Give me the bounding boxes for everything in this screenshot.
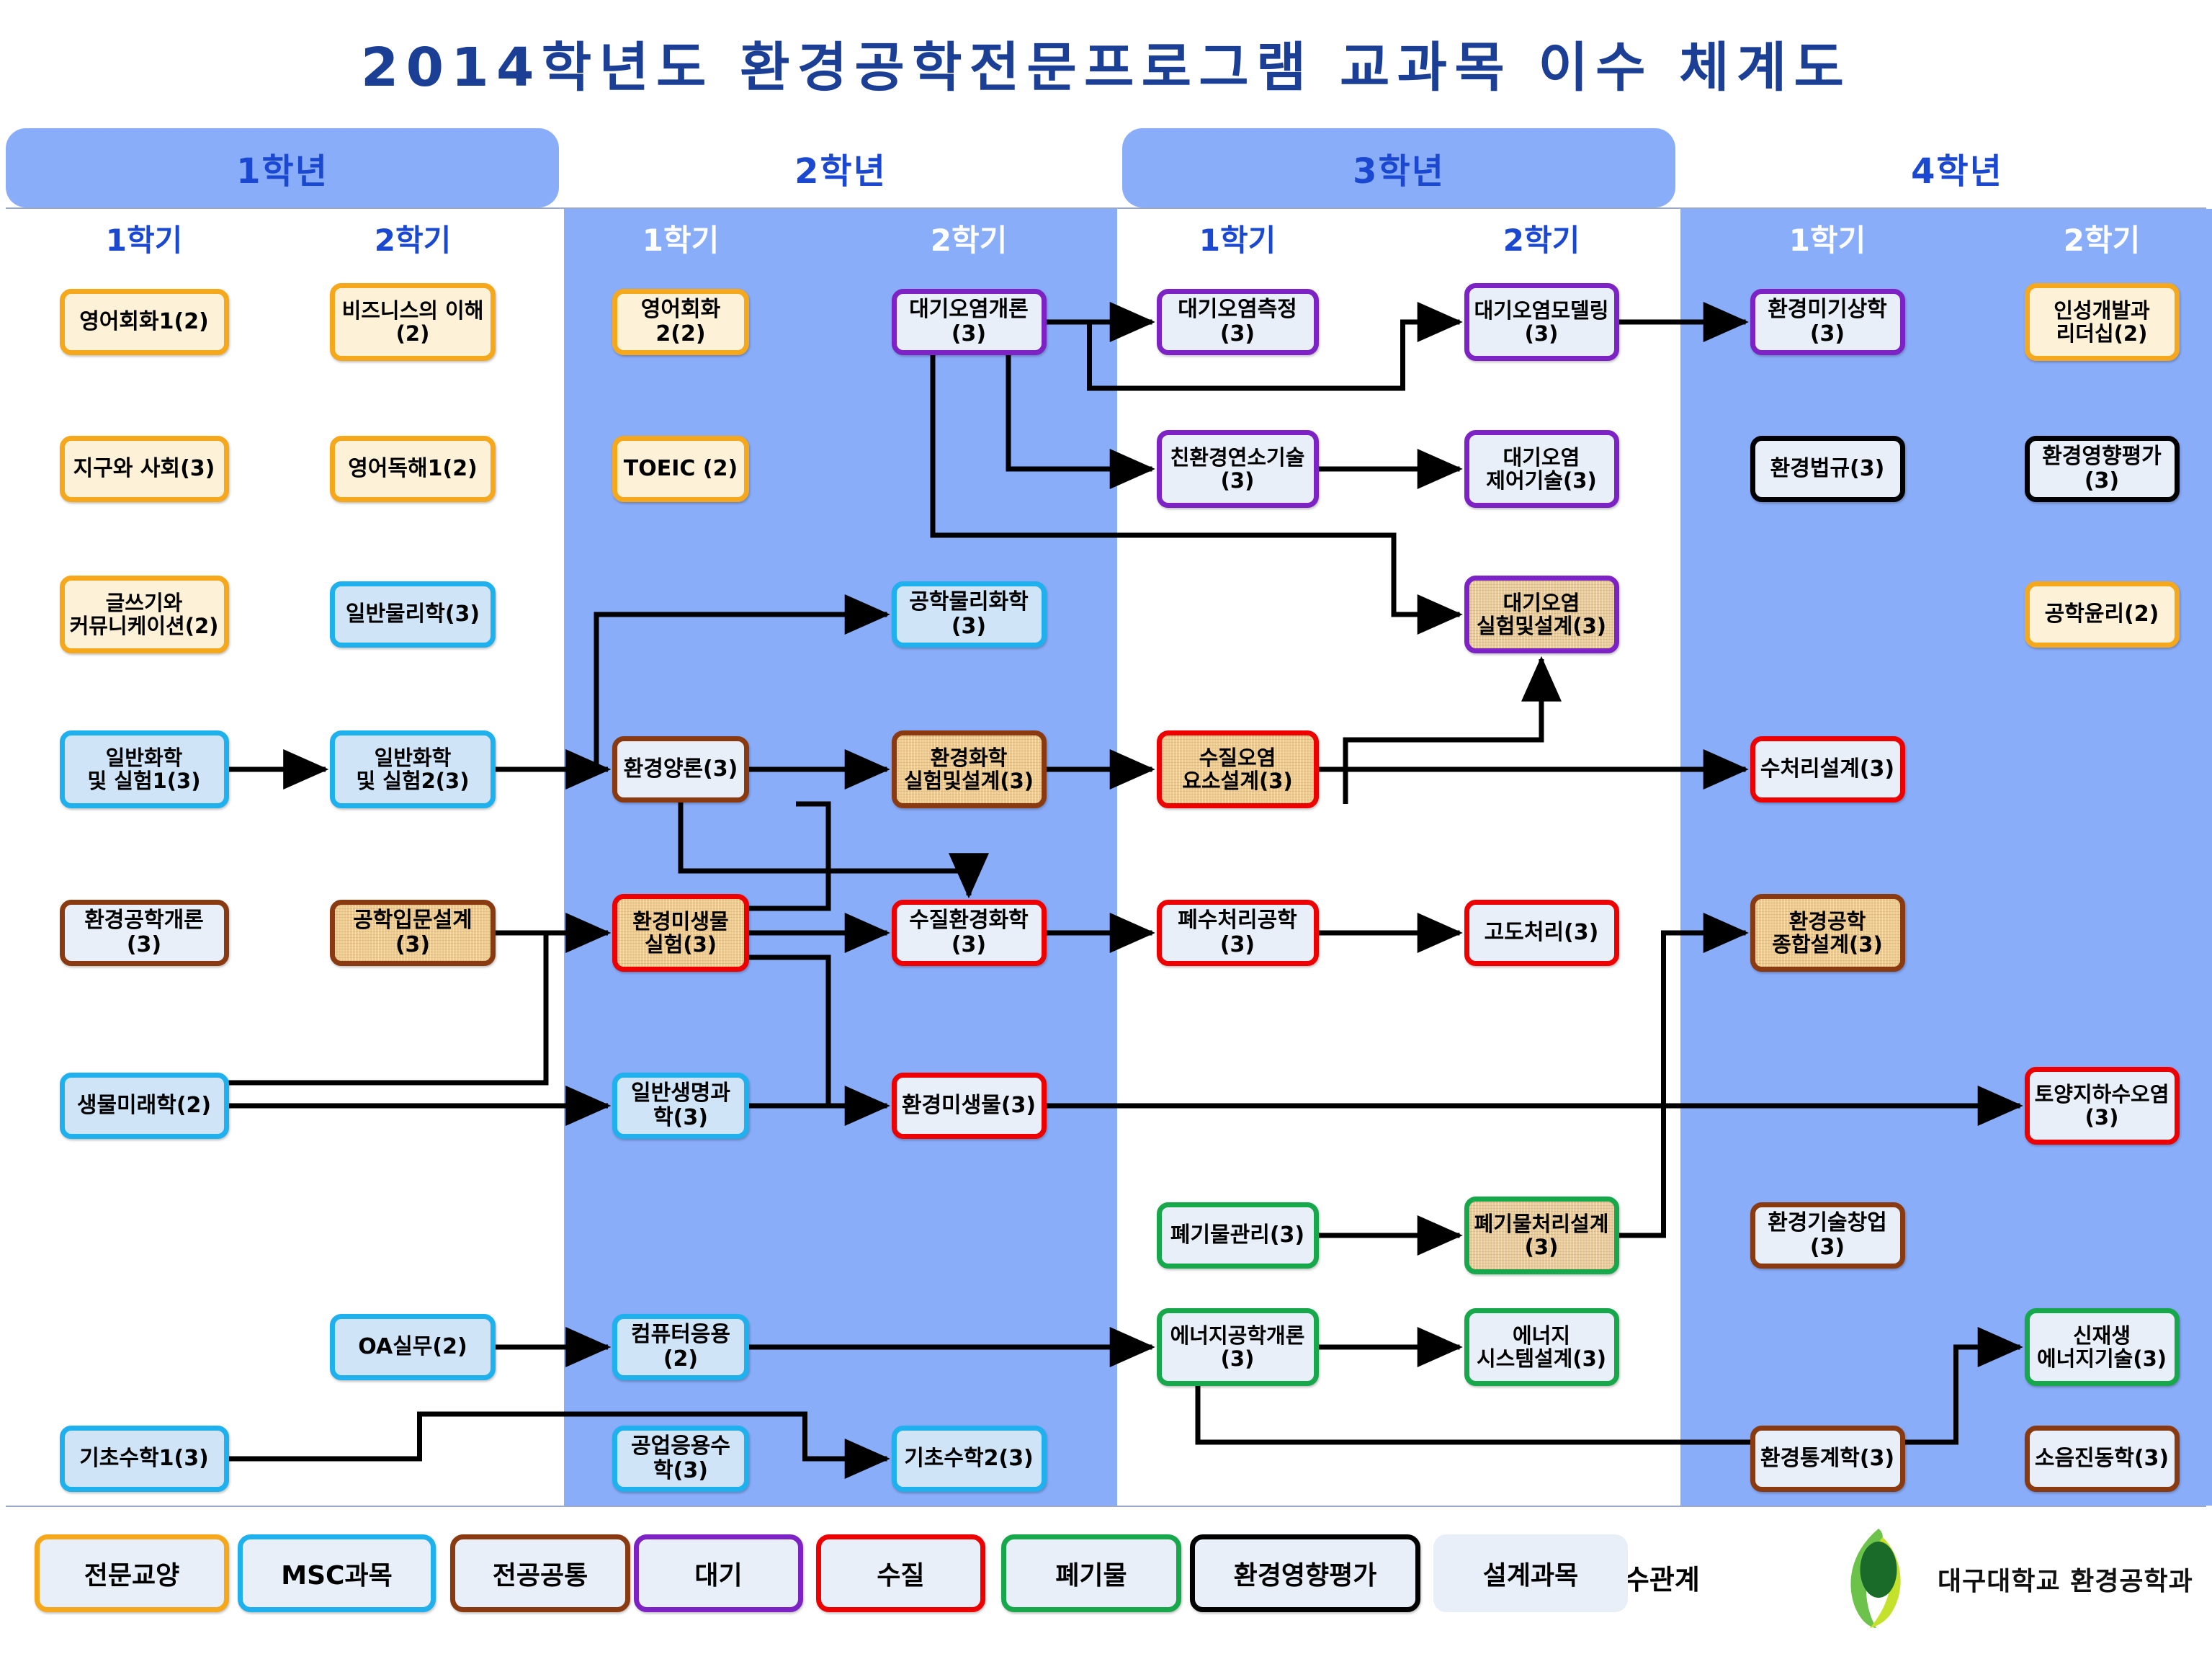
year-panel-1 (6, 209, 559, 1506)
course-box[interactable]: 일반물리학(3) (330, 581, 496, 648)
course-box[interactable]: 환경통계학(3) (1750, 1426, 1905, 1492)
course-box[interactable]: 대기오염제어기술(3) (1464, 430, 1619, 508)
course-box[interactable]: 환경공학개론(3) (60, 900, 229, 966)
course-box[interactable]: 글쓰기와커뮤니케이션(2) (60, 576, 229, 653)
course-box[interactable]: 신재생에너지기술(3) (2025, 1308, 2180, 1386)
course-box[interactable]: 폐수처리공학(3) (1157, 900, 1319, 966)
course-box[interactable]: 일반화학및 실험2(3) (330, 730, 496, 808)
year-header-2: 2학년 (564, 128, 1117, 207)
course-box[interactable]: 수처리설계(3) (1750, 736, 1905, 802)
course-box[interactable]: 일반화학및 실험1(3) (60, 730, 229, 808)
course-box[interactable]: 대기오염실험및설계(3) (1464, 576, 1619, 653)
course-box[interactable]: 비즈니스의 이해(2) (330, 283, 496, 361)
legend-item[interactable]: 전공공통 (450, 1534, 630, 1612)
course-box[interactable]: 대기오염측정(3) (1157, 289, 1319, 355)
legend-item[interactable]: 환경영향평가 (1190, 1534, 1420, 1612)
course-box[interactable]: 폐기물처리설계(3) (1464, 1197, 1619, 1274)
course-box[interactable]: 영어회화2(2) (612, 289, 749, 355)
legend-item[interactable]: 수질 (816, 1534, 985, 1612)
course-box[interactable]: 수질환경화학(3) (892, 900, 1047, 966)
course-box[interactable]: 폐기물관리(3) (1157, 1202, 1319, 1269)
course-box[interactable]: 환경법규(3) (1750, 436, 1905, 502)
semester-label-6: 2학기 (1433, 216, 1649, 260)
course-box[interactable]: 고도처리(3) (1464, 900, 1619, 966)
legend-item[interactable]: 설계과목 (1433, 1534, 1628, 1612)
legend: 선후수관계 대구대학교 환경공학과 전문교양MSC과목전공공통대기수질폐기물환경… (0, 1520, 2212, 1657)
semester-label-7: 1학기 (1719, 216, 1935, 260)
course-box[interactable]: 환경영향평가(3) (2025, 436, 2180, 502)
semester-label-3: 1학기 (573, 216, 789, 260)
course-box[interactable]: OA실무(2) (330, 1314, 496, 1380)
course-box[interactable]: 영어회화1(2) (60, 289, 229, 355)
course-box[interactable]: 생물미래학(2) (60, 1073, 229, 1139)
course-box[interactable]: TOEIC (2) (612, 436, 749, 502)
semester-label-1: 1학기 (36, 216, 252, 260)
year-header-3: 3학년 (1122, 128, 1675, 207)
course-box[interactable]: 컴퓨터응용(2) (612, 1314, 749, 1380)
university-logo-icon (1822, 1524, 1930, 1632)
course-box[interactable]: 에너지시스템설계(3) (1464, 1308, 1619, 1386)
course-box[interactable]: 토양지하수오염(3) (2025, 1067, 2180, 1145)
legend-item[interactable]: MSC과목 (238, 1534, 436, 1612)
course-box[interactable]: 환경미기상학(3) (1750, 289, 1905, 355)
semester-label-2: 2학기 (305, 216, 521, 260)
course-box[interactable]: 영어독해1(2) (330, 436, 496, 502)
legend-item[interactable]: 폐기물 (1001, 1534, 1181, 1612)
course-box[interactable]: 친환경연소기술(3) (1157, 430, 1319, 508)
curriculum-flowchart: 2014학년도 환경공학전문프로그램 교과목 이수 체계도 선후수관계 대구대학… (0, 0, 2212, 1659)
semester-label-4: 2학기 (861, 216, 1077, 260)
course-box[interactable]: 환경미생물(3) (892, 1073, 1047, 1139)
course-box[interactable]: 지구와 사회(3) (60, 436, 229, 502)
course-box[interactable]: 공업응용수학(3) (612, 1426, 749, 1492)
page-title: 2014학년도 환경공학전문프로그램 교과목 이수 체계도 (0, 24, 2212, 102)
year-header-label: 3학년 (1353, 143, 1445, 193)
course-box[interactable]: 공학윤리(2) (2025, 581, 2180, 648)
course-box[interactable]: 인성개발과리더십(2) (2025, 283, 2180, 361)
course-box[interactable]: 공학물리화학(3) (892, 581, 1047, 648)
year-header-label: 2학년 (794, 143, 887, 193)
year-header-label: 4학년 (1911, 143, 2003, 193)
legend-item[interactable]: 전문교양 (35, 1534, 229, 1612)
course-box[interactable]: 기초수학2(3) (892, 1426, 1047, 1492)
year-header-4: 4학년 (1680, 128, 2212, 207)
divider-bottom (6, 1506, 2206, 1507)
course-box[interactable]: 기초수학1(3) (60, 1426, 229, 1492)
course-box[interactable]: 소음진동학(3) (2025, 1426, 2180, 1492)
year-header-1: 1학년 (6, 128, 559, 207)
course-box[interactable]: 대기오염모델링(3) (1464, 283, 1619, 361)
year-panel-2 (564, 209, 1117, 1506)
university-label: 대구대학교 환경공학과 (1938, 1560, 2193, 1598)
course-box[interactable]: 환경화학실험및설계(3) (892, 730, 1047, 808)
semester-label-8: 2학기 (1994, 216, 2210, 260)
course-box[interactable]: 공학입문설계(3) (330, 900, 496, 966)
course-box[interactable]: 환경기술창업(3) (1750, 1202, 1905, 1269)
course-box[interactable]: 환경미생물실험(3) (612, 894, 749, 972)
course-box[interactable]: 수질오염요소설계(3) (1157, 730, 1319, 808)
year-header-label: 1학년 (236, 143, 328, 193)
course-box[interactable]: 일반생명과학(3) (612, 1073, 749, 1139)
course-box[interactable]: 환경공학종합설계(3) (1750, 894, 1905, 972)
course-box[interactable]: 대기오염개론(3) (892, 289, 1047, 355)
course-box[interactable]: 에너지공학개론(3) (1157, 1308, 1319, 1386)
semester-label-5: 1학기 (1129, 216, 1345, 260)
legend-item[interactable]: 대기 (634, 1534, 803, 1612)
course-box[interactable]: 환경양론(3) (612, 736, 749, 802)
